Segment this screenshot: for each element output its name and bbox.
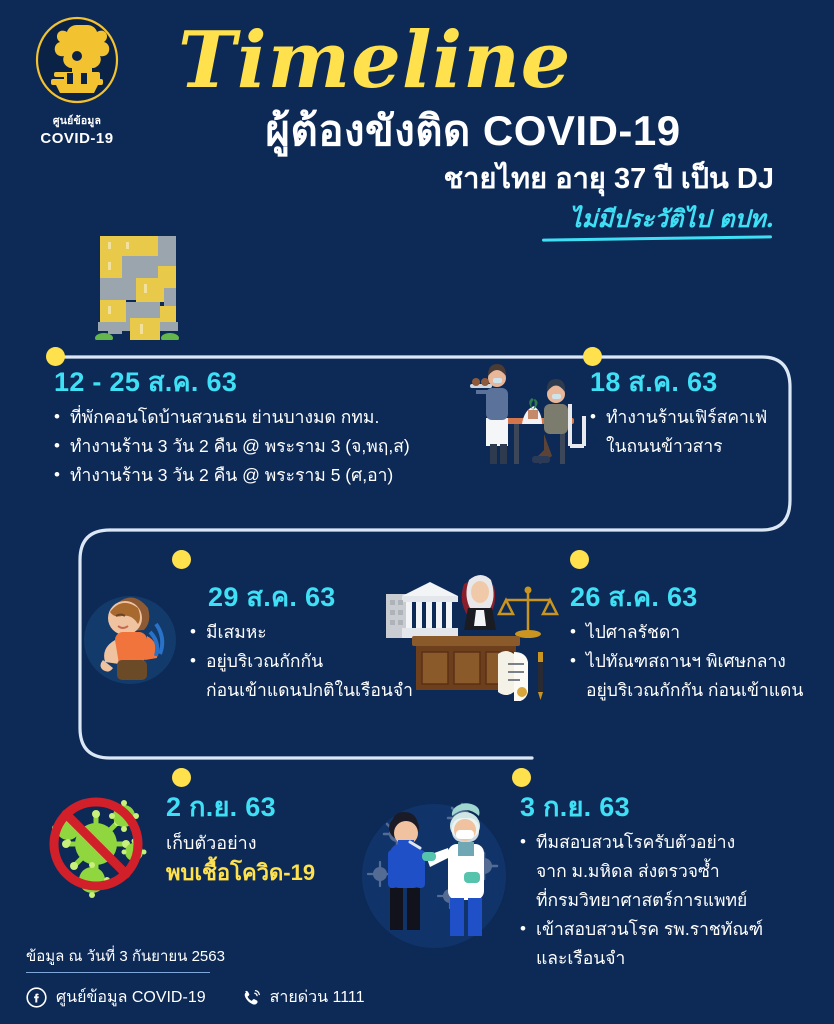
condo-building-icon	[78, 218, 198, 353]
timeline-dot-3	[172, 550, 191, 569]
page-note-text: ไม่มีประวัติไป ตปท.	[570, 204, 774, 233]
timeline-entry-3: 29 ส.ค. 63 มีเสมหะ อยู่บริเวณกักกัน ก่อน…	[190, 580, 490, 706]
entry-line: ไปศาลรัชดา	[570, 619, 834, 646]
entry-line: ทำงานร้าน 3 วัน 2 คืน @ พระราม 5 (ศ,อา)	[54, 462, 494, 489]
entry-line: ทำงานร้าน 3 วัน 2 คืน @ พระราม 3 (จ,พฤ,ส…	[54, 433, 494, 460]
entry-date: 18 ส.ค. 63	[590, 365, 830, 399]
thai-government-emblem-icon	[34, 16, 120, 108]
timeline-dot-5	[172, 768, 191, 787]
timeline-dot-4	[570, 550, 589, 569]
page-note: ไม่มีประวัติไป ตปท.	[150, 202, 820, 236]
timeline-dot-6	[512, 768, 531, 787]
footer-data-as-of: ข้อมูล ณ วันที่ 3 กันยายน 2563	[26, 946, 365, 972]
footer-hotline-label: สายด่วน 1111	[270, 985, 365, 1010]
phone-icon	[240, 987, 261, 1008]
entry-lines: ทีมสอบสวนโรครับตัวอย่าง จาก ม.มหิดล ส่งต…	[520, 829, 830, 972]
timeline-entry-5: 2 ก.ย. 63 เก็บตัวอย่าง พบเชื้อโควิด-19	[158, 790, 388, 889]
footer-links: ศูนย์ข้อมูล COVID-19 สายด่วน 1111	[26, 985, 365, 1010]
timeline-dot-1	[46, 347, 65, 366]
entry-lines: ทำงานร้านเฟิร์สคาเฟ่ ในถนนข้าวสาร	[590, 404, 830, 460]
footer: ข้อมูล ณ วันที่ 3 กันยายน 2563 ศูนย์ข้อม…	[26, 946, 365, 1011]
entry-line: ทีมสอบสวนโรครับตัวอย่าง	[520, 829, 830, 856]
timeline-entry-1: 12 - 25 ส.ค. 63 ที่พักคอนโดบ้านสวนธน ย่า…	[54, 365, 494, 491]
coughing-person-icon	[70, 578, 190, 698]
timeline-entry-2: 18 ส.ค. 63 ทำงานร้านเฟิร์สคาเฟ่ ในถนนข้า…	[590, 365, 830, 462]
entry-line: ไปทัณฑสถานฯ พิเศษกลาง	[570, 648, 834, 675]
entry-line: จาก ม.มหิดล ส่งตรวจซ้ำ	[520, 858, 830, 885]
logo-caption-line2: COVID-19	[18, 130, 136, 147]
page-subtitle: ชายไทย อายุ 37 ปี เป็น DJ	[150, 158, 820, 200]
entry-line: ก่อนเข้าแดนปกติในเรือนจำ	[190, 677, 490, 704]
header-titles: Timeline ผู้ต้องขังติด COVID-19 ชายไทย อ…	[150, 18, 820, 236]
footer-facebook-label: ศูนย์ข้อมูล COVID-19	[56, 985, 206, 1010]
entry-date: 26 ส.ค. 63	[570, 580, 834, 614]
entry-line: ทำงานร้านเฟิร์สคาเฟ่	[590, 404, 830, 431]
entry-lines: ไปศาลรัชดา ไปทัณฑสถานฯ พิเศษกลาง อยู่บริ…	[570, 619, 834, 704]
timeline-dot-2	[583, 347, 602, 366]
facebook-icon	[26, 987, 47, 1008]
entry-line: ที่พักคอนโดบ้านสวนธน ย่านบางมด กทม.	[54, 404, 494, 431]
entry-date: 29 ส.ค. 63	[190, 580, 490, 614]
timeline-entry-4: 26 ส.ค. 63 ไปศาลรัชดา ไปทัณฑสถานฯ พิเศษก…	[570, 580, 834, 706]
page-note-underline	[542, 235, 772, 241]
footer-hotline-link[interactable]: สายด่วน 1111	[240, 985, 365, 1010]
footer-divider	[26, 972, 210, 974]
virus-prohibited-icon	[36, 790, 156, 900]
logo-block: ศูนย์ข้อมูล COVID-19	[18, 16, 136, 147]
infographic-page: ศูนย์ข้อมูล COVID-19 Timeline ผู้ต้องขัง…	[0, 0, 834, 1024]
logo-caption-line1: ศูนย์ข้อมูล	[18, 112, 136, 129]
page-title-th: ผู้ต้องขังติด COVID-19	[150, 104, 820, 158]
entry-line: อยู่บริเวณกักกัน	[190, 648, 490, 675]
entry-line: เข้าสอบสวนโรค รพ.ราชทัณฑ์	[520, 916, 830, 943]
entry-line: อยู่บริเวณกักกัน ก่อนเข้าแดน	[570, 677, 834, 704]
entry-date: 2 ก.ย. 63	[158, 790, 388, 824]
entry-lines: ที่พักคอนโดบ้านสวนธน ย่านบางมด กทม. ทำงา…	[54, 404, 494, 489]
entry-lines: มีเสมหะ อยู่บริเวณกักกัน ก่อนเข้าแดนปกติ…	[190, 619, 490, 704]
page-title-en: Timeline	[150, 18, 820, 104]
entry-line: ที่กรมวิทยาศาสตร์การแพทย์	[520, 887, 830, 914]
entry-date: 12 - 25 ส.ค. 63	[54, 365, 494, 399]
entry-highlight-line: พบเชื้อโควิด-19	[158, 857, 388, 889]
entry-plain-line: เก็บตัวอย่าง	[158, 829, 388, 857]
entry-line: มีเสมหะ	[190, 619, 490, 646]
entry-date: 3 ก.ย. 63	[520, 790, 830, 824]
entry-line: ในถนนข้าวสาร	[590, 433, 830, 460]
timeline-entry-6: 3 ก.ย. 63 ทีมสอบสวนโรครับตัวอย่าง จาก ม.…	[520, 790, 830, 974]
footer-facebook-link[interactable]: ศูนย์ข้อมูล COVID-19	[26, 985, 206, 1010]
entry-line: และเรือนจำ	[520, 945, 830, 972]
